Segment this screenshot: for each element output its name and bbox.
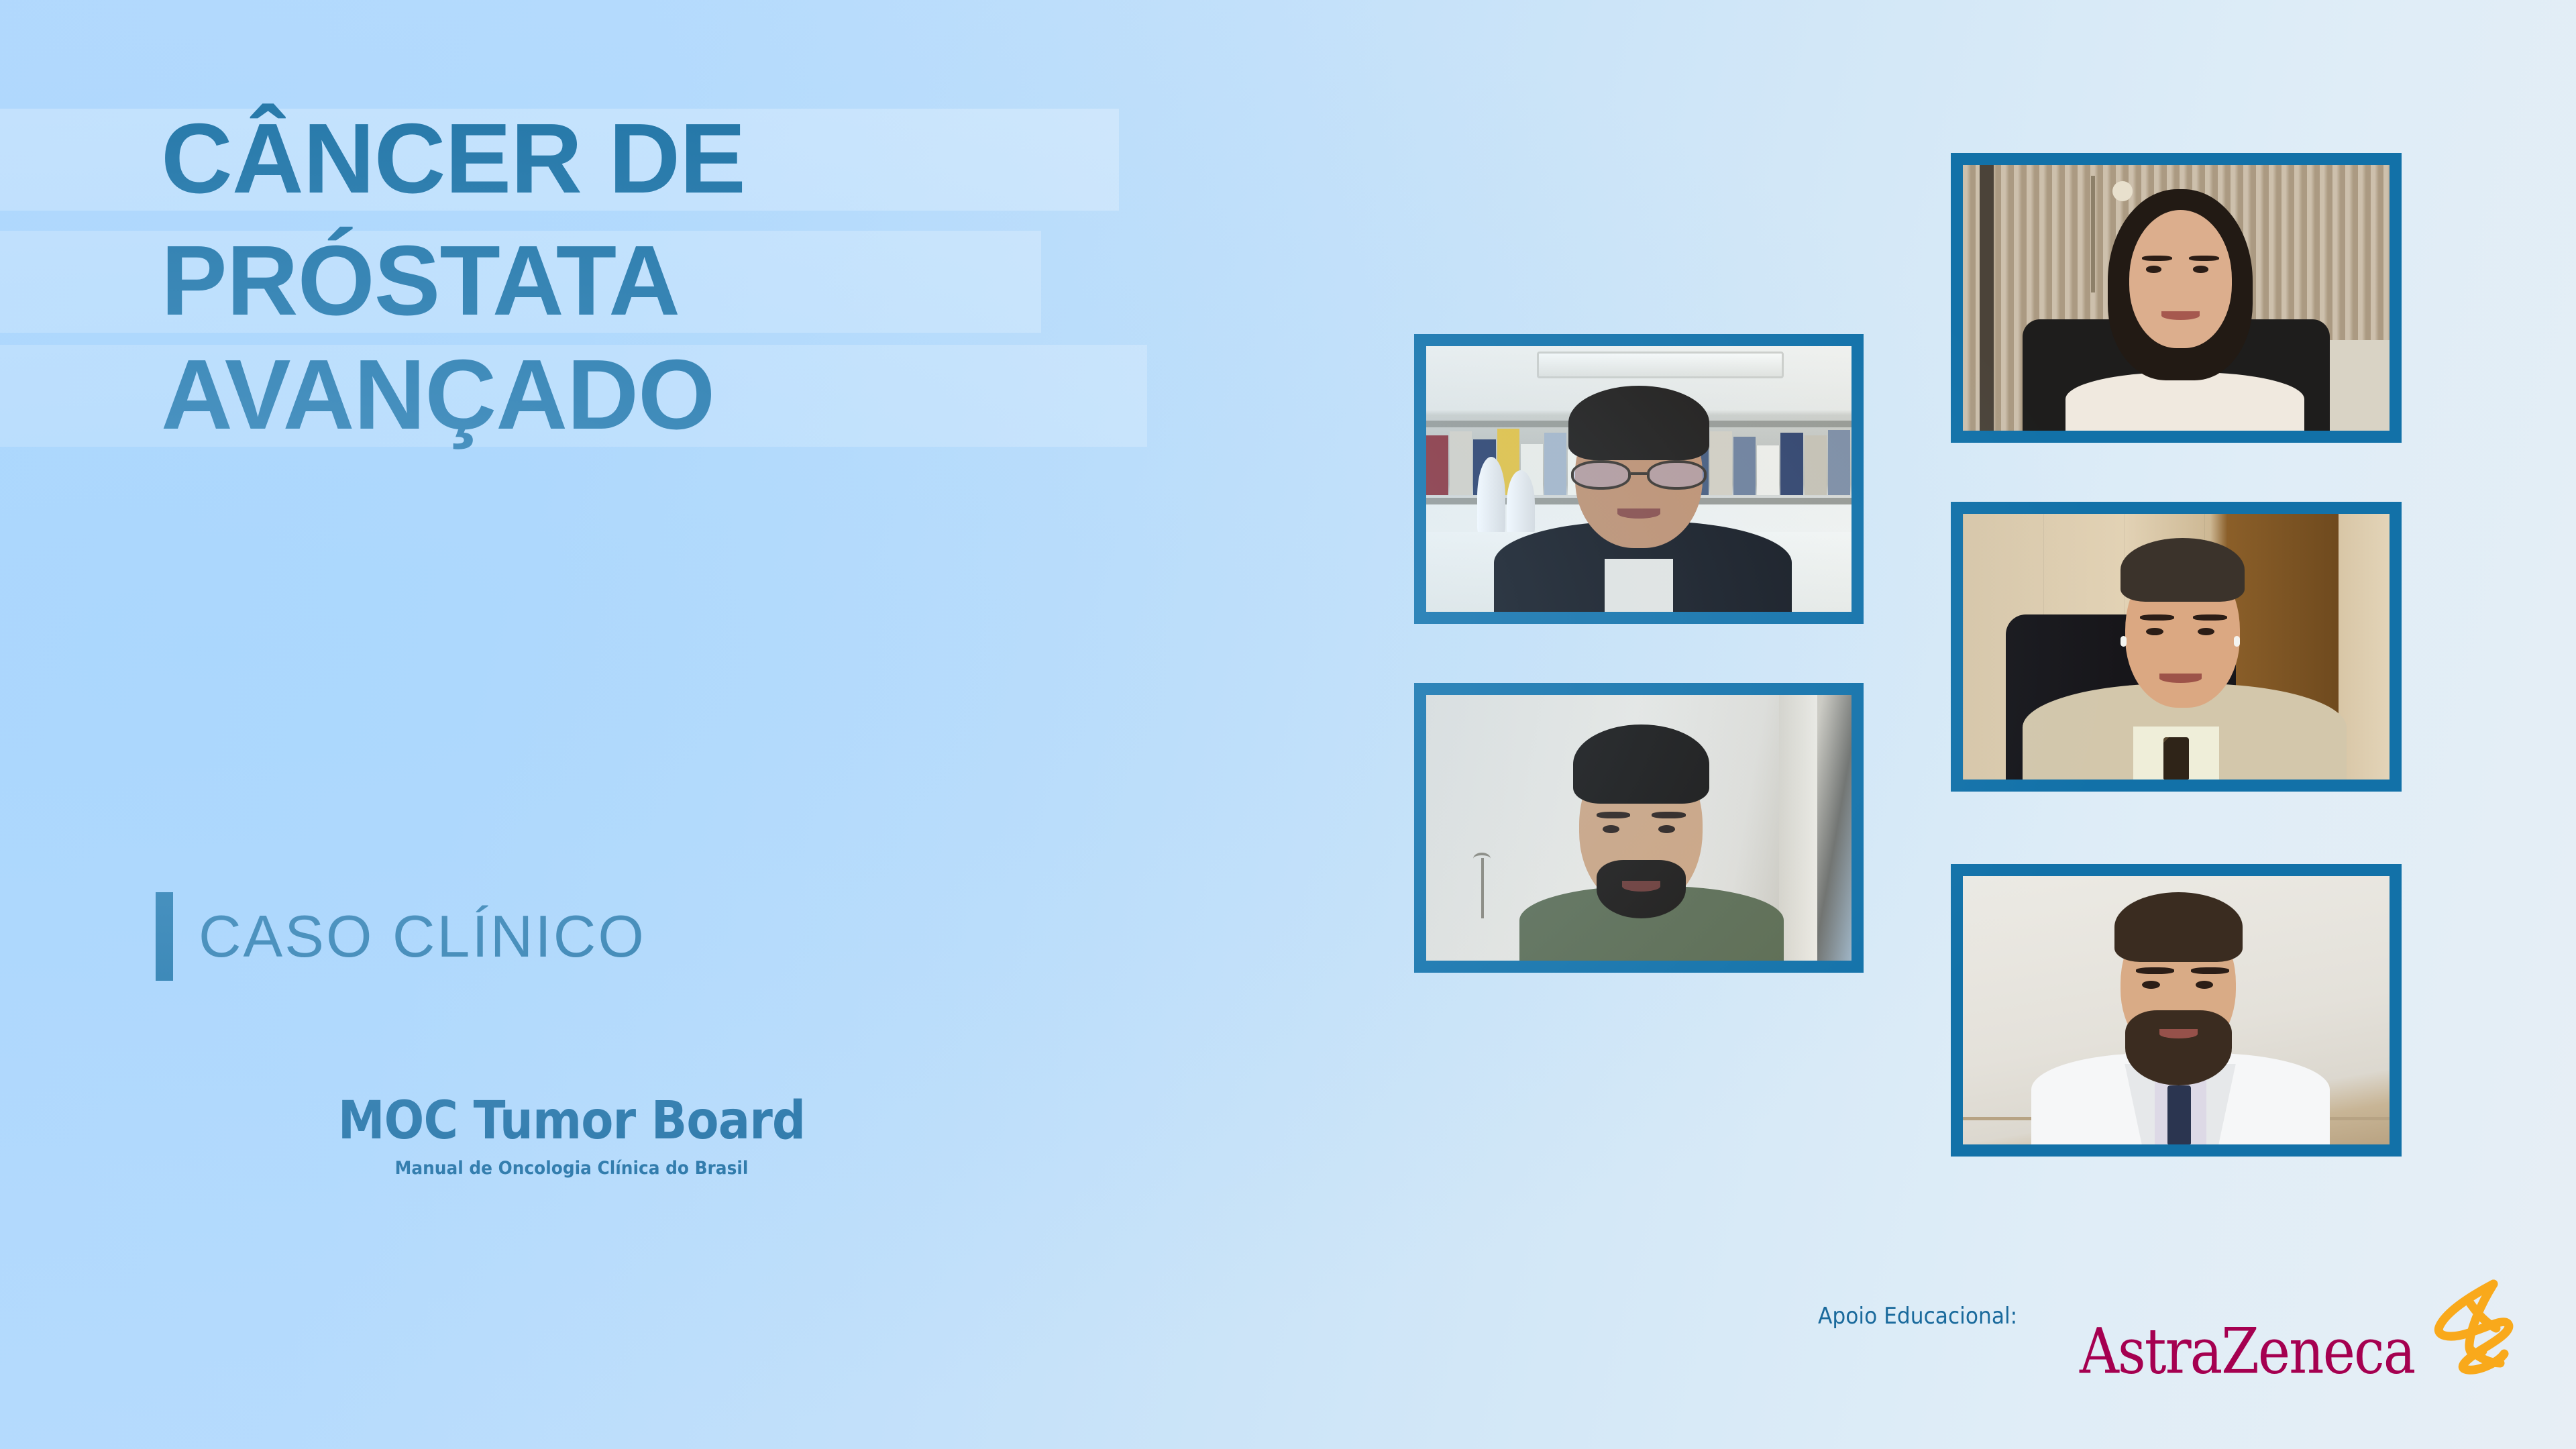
title-line-2-text: PRÓSTATA <box>161 231 680 331</box>
subtitle-accent-bar <box>156 892 173 981</box>
shelf-light <box>1537 352 1784 378</box>
video-feed <box>1963 876 2390 1144</box>
person-eye-right <box>1658 825 1675 833</box>
person-eye-right <box>2193 266 2208 272</box>
astrazeneca-wordmark: AstraZeneca <box>2080 1320 2414 1383</box>
person-shirt <box>1605 559 1672 612</box>
moc-logo-subtitle: Manual de Oncologia Clínica do Brasil <box>325 1158 818 1179</box>
slide-canvas: CÂNCER DE PRÓSTATA AVANÇADO CASO CLÍNICO… <box>0 0 2576 1449</box>
person-brow-left <box>1597 812 1631 818</box>
person-eye-left <box>1603 825 1619 833</box>
person-mouth <box>2159 674 2202 683</box>
person-beard <box>2125 1010 2232 1085</box>
person-hair <box>1568 386 1709 460</box>
astrazeneca-ribbon-icon <box>2429 1275 2523 1380</box>
video-feed <box>1963 165 2390 431</box>
person-tie <box>2167 1085 2191 1144</box>
person-brow-right <box>2189 256 2219 261</box>
sofa <box>2321 340 2390 431</box>
person-eye-left <box>2146 266 2161 272</box>
subtitle: CASO CLÍNICO <box>156 892 646 981</box>
video-tile-participant-tan-suit[interactable]: THUN <box>1951 502 2402 792</box>
person-brow-left <box>2142 256 2172 261</box>
person-face <box>2129 210 2232 348</box>
person-brow-left <box>2140 614 2174 621</box>
video-feed <box>1426 695 1851 961</box>
dried-twig <box>1481 858 1484 918</box>
vase-right <box>1507 470 1535 537</box>
earbud-right-icon <box>2234 636 2240 647</box>
sponsor-label-wrap: Apoio Educacional: <box>1818 1303 2035 1330</box>
title-line-1-text: CÂNCER DE <box>161 109 745 209</box>
person-top <box>2065 372 2304 431</box>
person-mouth <box>1622 881 1660 892</box>
person-brow-left <box>2136 967 2174 974</box>
person-eyeglasses <box>1571 458 1707 492</box>
person-hair <box>1573 724 1709 804</box>
vase-left <box>1477 457 1505 537</box>
astrazeneca-logo: AstraZeneca <box>2080 1275 2523 1383</box>
person-eye-right <box>2196 981 2214 989</box>
subtitle-text: CASO CLÍNICO <box>199 904 646 969</box>
person-brow-right <box>2193 614 2227 621</box>
sponsor-label: Apoio Educacional: <box>1818 1303 2017 1330</box>
video-tile-participant-bookshelf-glasses[interactable] <box>1414 334 1864 624</box>
person-tie <box>2163 737 2189 780</box>
person-mouth <box>2159 1029 2198 1038</box>
video-tile-participant-white-coat[interactable] <box>1951 864 2402 1157</box>
person-brow-right <box>2191 967 2229 974</box>
person-hair <box>2121 538 2244 602</box>
person-eye-left <box>2142 981 2160 989</box>
title-line-3-text: AVANÇADO <box>161 345 714 445</box>
video-feed <box>1426 346 1851 612</box>
moc-tumor-board-logo: MOC Tumor Board Manual de Oncologia Clín… <box>303 1091 840 1179</box>
moc-logo-title: MOC Tumor Board <box>330 1091 813 1151</box>
video-tile-participant-green-shirt[interactable] <box>1414 683 1864 973</box>
floor-lamp-stem <box>2091 176 2095 292</box>
curtain <box>1779 695 1817 961</box>
video-tile-participant-woman-curtain[interactable] <box>1951 153 2402 443</box>
person-hair <box>2114 892 2243 962</box>
door-jamb <box>1980 165 1993 431</box>
person-brow-right <box>1652 812 1686 818</box>
video-feed: THUN <box>1963 514 2390 780</box>
earbud-left-icon <box>2121 636 2127 647</box>
lamp-globe <box>2112 181 2133 201</box>
